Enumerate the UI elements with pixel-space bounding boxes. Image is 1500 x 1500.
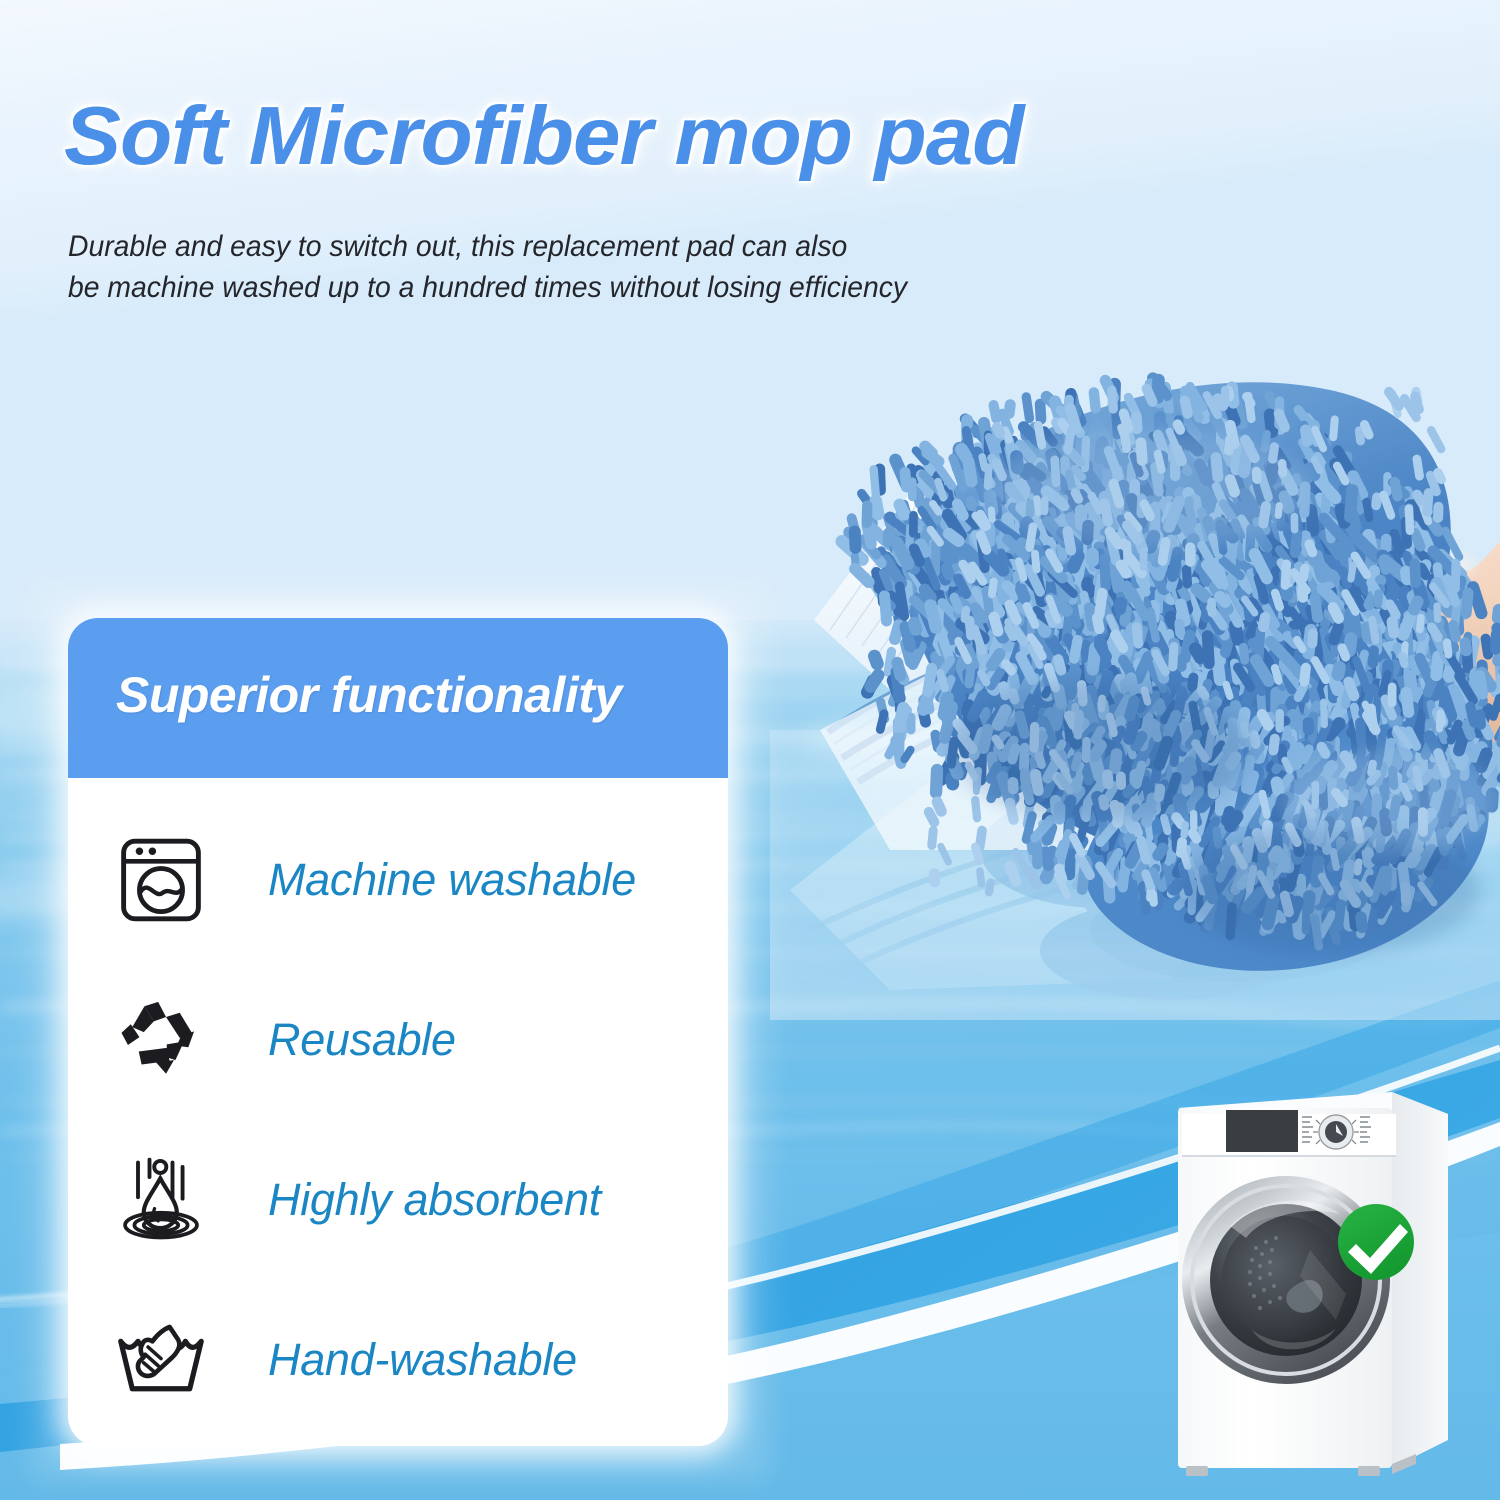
feature-label: Hand-washable	[220, 1334, 577, 1386]
feature-row-reusable[interactable]: Reusable	[68, 960, 728, 1120]
superior-functionality-card: Superior functionality Machine washable	[68, 618, 728, 1446]
feature-label: Highly absorbent	[220, 1174, 601, 1226]
card-title: Superior functionality	[116, 666, 622, 724]
feature-label: Reusable	[220, 1014, 456, 1066]
hand-wash-basin-icon	[102, 1314, 220, 1406]
mop-pad-photo	[770, 330, 1500, 1020]
feature-row-machine-washable[interactable]: Machine washable	[68, 800, 728, 960]
feature-row-hand-washable[interactable]: Hand-washable	[68, 1280, 728, 1440]
feature-row-highly-absorbent[interactable]: Highly absorbent	[68, 1120, 728, 1280]
page-subtitle: Durable and easy to switch out, this rep…	[68, 226, 907, 309]
feature-list: Machine washable	[68, 778, 728, 1440]
washing-machine-icon	[102, 834, 220, 926]
card-header: Superior functionality	[68, 618, 728, 778]
feature-label: Machine washable	[220, 854, 636, 906]
water-drop-ripple-icon	[102, 1154, 220, 1246]
subtitle-line-2: be machine washed up to a hundred times …	[68, 267, 907, 308]
washing-machine-image	[1160, 1080, 1460, 1480]
green-check-badge-group	[1338, 1204, 1414, 1280]
subtitle-line-1: Durable and easy to switch out, this rep…	[68, 226, 907, 267]
page-title: Soft Microfiber mop pad	[64, 88, 1023, 184]
recycle-icon	[102, 994, 220, 1086]
